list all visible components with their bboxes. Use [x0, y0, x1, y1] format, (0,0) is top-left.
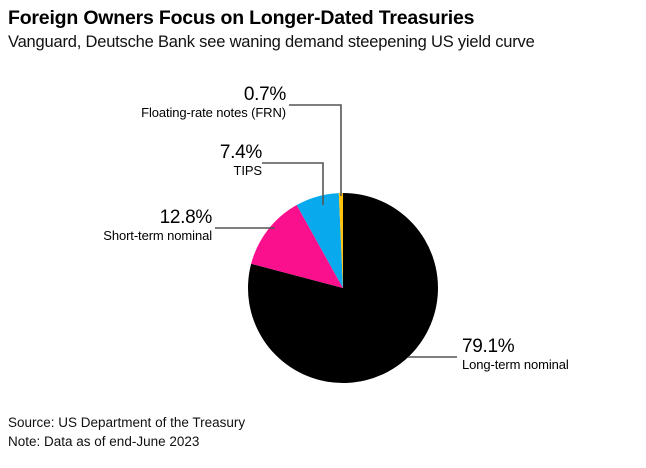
callout-long-term-value: 79.1% — [462, 336, 642, 357]
callout-short-term: 12.8% Short-term nominal — [40, 207, 212, 244]
callout-frn-value: 0.7% — [106, 84, 286, 105]
note-text: Note: Data as of end-June 2023 — [8, 432, 245, 451]
callout-frn: 0.7% Floating-rate notes (FRN) — [106, 84, 286, 121]
callout-long-term-label: Long-term nominal — [462, 357, 642, 373]
chart-footer: Source: US Department of the Treasury No… — [8, 413, 245, 451]
pie-slices — [248, 193, 438, 383]
callout-short-term-label: Short-term nominal — [40, 228, 212, 244]
callout-short-term-value: 12.8% — [40, 207, 212, 228]
callout-tips: 7.4% TIPS — [106, 142, 262, 179]
callout-tips-label: TIPS — [106, 163, 262, 179]
callout-long-term: 79.1% Long-term nominal — [462, 336, 642, 373]
leader-line-frn — [289, 105, 341, 196]
callout-tips-value: 7.4% — [106, 142, 262, 163]
callout-frn-label: Floating-rate notes (FRN) — [106, 105, 286, 121]
chart-plot-area: 0.7% Floating-rate notes (FRN) 7.4% TIPS… — [0, 0, 646, 468]
source-text: Source: US Department of the Treasury — [8, 413, 245, 432]
